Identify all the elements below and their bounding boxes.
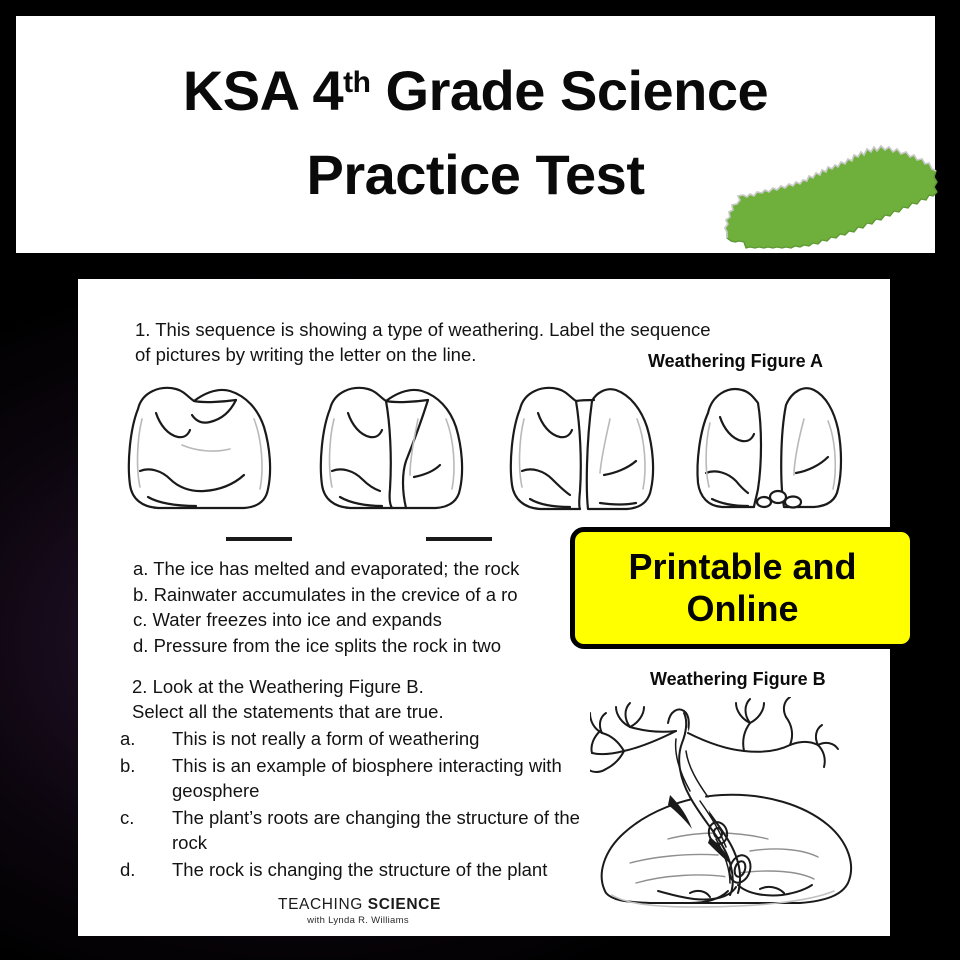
weathering-figure-a-label: Weathering Figure A (648, 351, 823, 372)
question-2-options: a. This is not really a form of weatheri… (120, 726, 590, 882)
page-title-suffix: Grade Science (371, 59, 769, 122)
answer-blank-1[interactable] (226, 537, 292, 541)
page-title-ordinal-suffix: th (343, 66, 370, 99)
question-2-option-b[interactable]: b. This is an example of biosphere inter… (120, 753, 590, 804)
brand-logo: TEACHING SCIENCE with Lynda R. Williams (278, 896, 438, 926)
question-2-option-a-text: This is not really a form of weathering (172, 726, 590, 752)
question-2-option-b-text: This is an example of biosphere interact… (172, 753, 590, 804)
rock-figure-crack-forming (310, 379, 486, 519)
brand-logo-title: TEACHING SCIENCE (278, 896, 438, 914)
tree-growing-from-rock-figure (590, 697, 888, 915)
brand-logo-subtitle: with Lynda R. Williams (278, 915, 438, 926)
question-2-prompt-line-2: Select all the statements that are true. (120, 699, 590, 724)
header-card-inner: KSA 4th Grade Science Practice Test (16, 16, 935, 253)
kentucky-map-icon (721, 138, 943, 250)
question-2-option-a-letter: a. (120, 726, 172, 752)
question-2-option-b-letter: b. (120, 753, 172, 804)
rock-figure-split (500, 379, 676, 519)
page-title-prefix: KSA 4 (183, 59, 343, 122)
question-1-prompt: 1. This sequence is showing a type of we… (135, 317, 735, 367)
brand-logo-word-2: SCIENCE (368, 896, 441, 913)
question-2-block: 2. Look at the Weathering Figure B. Sele… (120, 674, 590, 882)
header-card: KSA 4th Grade Science Practice Test (16, 16, 935, 253)
answer-blank-2[interactable] (426, 537, 492, 541)
question-1-prompt-line-2: of pictures by writing the letter on the… (135, 342, 735, 367)
question-2-option-d-text: The rock is changing the structure of th… (172, 857, 590, 883)
question-2-option-c[interactable]: c. The plant’s roots are changing the st… (120, 805, 590, 856)
question-1-prompt-line-1: 1. This sequence is showing a type of we… (135, 317, 735, 342)
question-2-option-a[interactable]: a. This is not really a form of weatheri… (120, 726, 590, 752)
promo-badge-line-2: Online (686, 588, 798, 630)
promo-badge-line-1: Printable and (628, 546, 856, 588)
rock-figure-separated-with-debris (686, 379, 862, 519)
question-2-prompt-line-1: 2. Look at the Weathering Figure B. (120, 674, 590, 699)
question-2-option-c-letter: c. (120, 805, 172, 856)
question-2-option-c-text: The plant’s roots are changing the struc… (172, 805, 590, 856)
question-2-option-d-letter: d. (120, 857, 172, 883)
product-preview-image: KSA 4th Grade Science Practice Test 1. T… (0, 0, 960, 960)
weathering-figure-a-sequence (108, 379, 868, 519)
brand-logo-word-1: TEACHING (278, 896, 368, 913)
rock-figure-intact (118, 379, 294, 519)
weathering-figure-b-label: Weathering Figure B (650, 669, 826, 690)
promo-badge: Printable and Online (570, 527, 915, 649)
page-title-line-1: KSA 4th Grade Science (16, 51, 941, 123)
question-2-option-d[interactable]: d. The rock is changing the structure of… (120, 857, 590, 883)
